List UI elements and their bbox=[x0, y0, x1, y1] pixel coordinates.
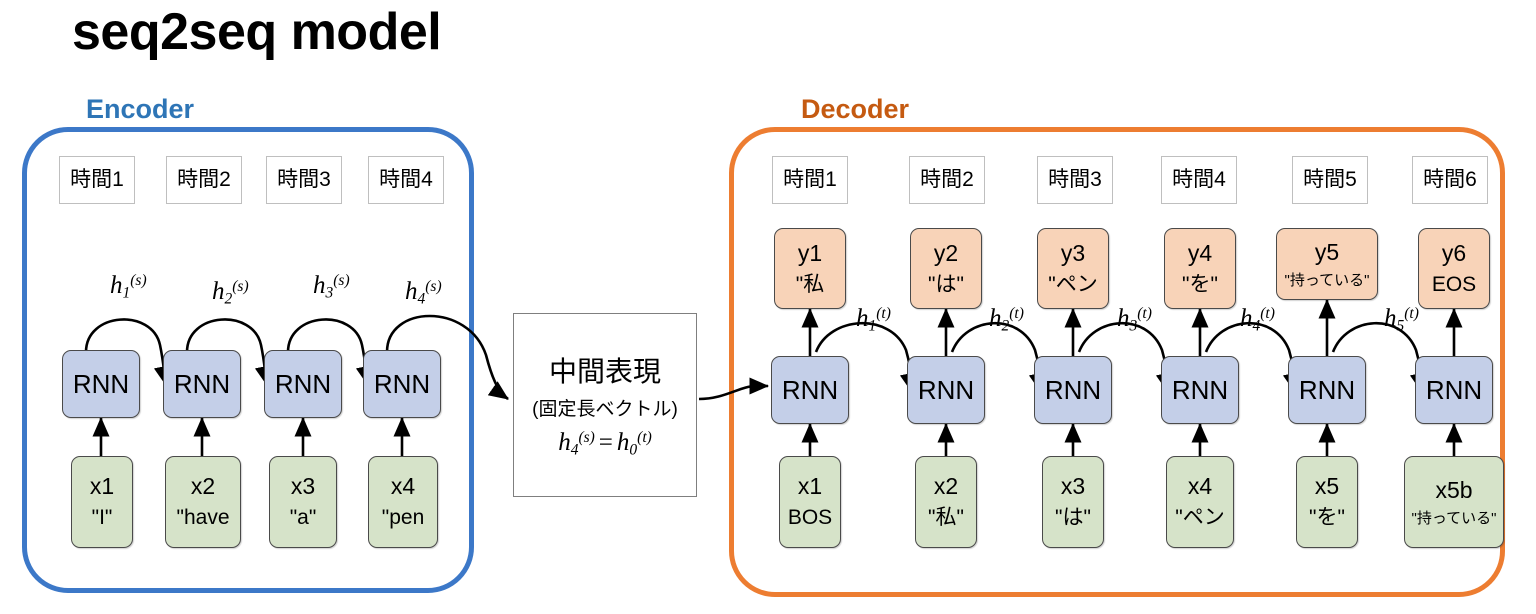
rnn-label: RNN bbox=[1426, 375, 1482, 406]
rnn-label: RNN bbox=[374, 369, 430, 400]
decoder-input-3[interactable]: x3 "は" bbox=[1042, 456, 1104, 548]
h-base: h bbox=[110, 272, 123, 299]
h-base: h bbox=[1384, 305, 1397, 332]
input-id: x5b bbox=[1435, 477, 1472, 504]
h-sup: (t) bbox=[1260, 305, 1275, 322]
page-title: seq2seq model bbox=[72, 2, 441, 62]
encoder-label: Encoder bbox=[86, 94, 194, 125]
h-base: h bbox=[405, 278, 418, 305]
input-id: x2 bbox=[191, 473, 215, 500]
output-word: "持っている" bbox=[1285, 272, 1370, 290]
decoder-input-5[interactable]: x5 "を" bbox=[1296, 456, 1358, 548]
input-id: x3 bbox=[291, 473, 315, 500]
decoder-time-label: 時間6 bbox=[1423, 168, 1477, 193]
encoder-rnn-3[interactable]: RNN bbox=[264, 350, 342, 418]
encoder-time-label: 時間3 bbox=[277, 168, 331, 193]
encoder-hidden-label-2: h2(s) bbox=[212, 278, 249, 309]
h-base: h bbox=[212, 278, 225, 305]
h-sup: (s) bbox=[333, 272, 349, 289]
input-word: "ペン bbox=[1175, 506, 1224, 531]
output-id: y1 bbox=[798, 240, 822, 267]
encoder-time-box-3: 時間3 bbox=[266, 156, 342, 204]
encoder-time-box-2: 時間2 bbox=[166, 156, 242, 204]
decoder-rnn-1[interactable]: RNN bbox=[771, 356, 849, 424]
encoder-time-box-1: 時間1 bbox=[59, 156, 135, 204]
diagram-canvas: seq2seq model Encoder Decoder bbox=[0, 0, 1536, 614]
encoder-rnn-4[interactable]: RNN bbox=[363, 350, 441, 418]
decoder-rnn-5[interactable]: RNN bbox=[1288, 356, 1366, 424]
input-id: x1 bbox=[798, 473, 822, 500]
decoder-output-4[interactable]: y4 "を" bbox=[1164, 228, 1236, 309]
input-id: x4 bbox=[391, 473, 415, 500]
rnn-label: RNN bbox=[1299, 375, 1355, 406]
eq-operator: = bbox=[595, 429, 617, 456]
decoder-time-box-3: 時間3 bbox=[1037, 156, 1113, 204]
intermediate-subtitle: (固定長ベクトル) bbox=[532, 394, 678, 421]
decoder-rnn-6[interactable]: RNN bbox=[1415, 356, 1493, 424]
decoder-rnn-4[interactable]: RNN bbox=[1161, 356, 1239, 424]
output-word: "を" bbox=[1182, 273, 1218, 298]
rnn-label: RNN bbox=[1045, 375, 1101, 406]
encoder-hidden-label-4: h4(s) bbox=[405, 278, 442, 309]
decoder-output-3[interactable]: y3 "ペン bbox=[1037, 228, 1109, 309]
decoder-hidden-label-2: h2(t) bbox=[989, 305, 1024, 336]
encoder-time-label: 時間4 bbox=[379, 168, 433, 193]
h-sup: (t) bbox=[1137, 305, 1152, 322]
eq-right-sub: 0 bbox=[629, 442, 637, 459]
h-sup: (s) bbox=[130, 272, 146, 289]
rnn-label: RNN bbox=[1172, 375, 1228, 406]
eq-left-base: h bbox=[558, 429, 571, 456]
input-id: x3 bbox=[1061, 473, 1085, 500]
h-sup: (s) bbox=[232, 278, 248, 295]
eq-right-base: h bbox=[617, 429, 630, 456]
output-id: y5 bbox=[1315, 239, 1339, 266]
input-word: BOS bbox=[788, 506, 832, 531]
input-word: "持っている" bbox=[1412, 510, 1497, 528]
decoder-rnn-2[interactable]: RNN bbox=[907, 356, 985, 424]
rnn-label: RNN bbox=[275, 369, 331, 400]
decoder-time-label: 時間3 bbox=[1048, 168, 1102, 193]
input-word: "have bbox=[177, 506, 230, 531]
encoder-input-2[interactable]: x2 "have bbox=[165, 456, 241, 548]
rnn-label: RNN bbox=[782, 375, 838, 406]
input-word: "を" bbox=[1309, 506, 1345, 531]
h-sup: (t) bbox=[1009, 305, 1024, 322]
decoder-output-5[interactable]: y5 "持っている" bbox=[1276, 228, 1378, 300]
decoder-time-box-1: 時間1 bbox=[772, 156, 848, 204]
h-sup: (t) bbox=[876, 305, 891, 322]
rnn-label: RNN bbox=[174, 369, 230, 400]
decoder-time-box-5: 時間5 bbox=[1292, 156, 1368, 204]
h-base: h bbox=[856, 305, 869, 332]
output-id: y4 bbox=[1188, 240, 1212, 267]
h-base: h bbox=[1240, 305, 1253, 332]
decoder-time-label: 時間1 bbox=[783, 168, 837, 193]
output-id: y2 bbox=[934, 240, 958, 267]
decoder-time-box-6: 時間6 bbox=[1412, 156, 1488, 204]
decoder-input-6[interactable]: x5b "持っている" bbox=[1404, 456, 1504, 548]
intermediate-representation-box: 中間表現 (固定長ベクトル) h4(s)=h0(t) bbox=[513, 313, 697, 497]
decoder-hidden-label-4: h4(t) bbox=[1240, 305, 1275, 336]
h-base: h bbox=[313, 272, 326, 299]
input-word: "a" bbox=[290, 506, 317, 531]
decoder-output-2[interactable]: y2 "は" bbox=[910, 228, 982, 309]
input-id: x2 bbox=[934, 473, 958, 500]
encoder-time-label: 時間1 bbox=[70, 168, 124, 193]
input-word: "私" bbox=[928, 506, 964, 531]
h-base: h bbox=[989, 305, 1002, 332]
input-word: "は" bbox=[1055, 506, 1091, 531]
decoder-input-1[interactable]: x1 BOS bbox=[779, 456, 841, 548]
decoder-label: Decoder bbox=[801, 94, 909, 125]
decoder-input-2[interactable]: x2 "私" bbox=[915, 456, 977, 548]
decoder-hidden-label-1: h1(t) bbox=[856, 305, 891, 336]
input-id: x5 bbox=[1315, 473, 1339, 500]
decoder-hidden-label-5: h5(t) bbox=[1384, 305, 1419, 336]
decoder-time-label: 時間4 bbox=[1172, 168, 1226, 193]
input-id: x1 bbox=[90, 473, 114, 500]
h-sup: (s) bbox=[425, 278, 441, 295]
input-word: "pen bbox=[382, 506, 425, 531]
decoder-hidden-label-3: h3(t) bbox=[1117, 305, 1152, 336]
rnn-label: RNN bbox=[918, 375, 974, 406]
output-word: "は" bbox=[928, 273, 964, 298]
encoder-input-3[interactable]: x3 "a" bbox=[269, 456, 337, 548]
encoder-time-label: 時間2 bbox=[177, 168, 231, 193]
encoder-time-box-4: 時間4 bbox=[368, 156, 444, 204]
decoder-time-box-2: 時間2 bbox=[909, 156, 985, 204]
output-id: y6 bbox=[1442, 240, 1466, 267]
encoder-rnn-2[interactable]: RNN bbox=[163, 350, 241, 418]
eq-left-sup: (s) bbox=[578, 429, 594, 446]
input-id: x4 bbox=[1188, 473, 1212, 500]
decoder-time-label: 時間5 bbox=[1303, 168, 1357, 193]
rnn-label: RNN bbox=[73, 369, 129, 400]
intermediate-equation: h4(s)=h0(t) bbox=[558, 429, 652, 460]
encoder-hidden-label-1: h1(s) bbox=[110, 272, 147, 303]
output-word: "ペン bbox=[1048, 273, 1097, 298]
decoder-output-1[interactable]: y1 "私 bbox=[774, 228, 846, 309]
h-base: h bbox=[1117, 305, 1130, 332]
encoder-input-1[interactable]: x1 "I" bbox=[71, 456, 133, 548]
decoder-input-4[interactable]: x4 "ペン bbox=[1166, 456, 1234, 548]
output-word: "私 bbox=[796, 273, 824, 298]
output-word: EOS bbox=[1432, 273, 1476, 298]
encoder-hidden-label-3: h3(s) bbox=[313, 272, 350, 303]
decoder-time-label: 時間2 bbox=[920, 168, 974, 193]
decoder-time-box-4: 時間4 bbox=[1161, 156, 1237, 204]
output-id: y3 bbox=[1061, 240, 1085, 267]
decoder-output-6[interactable]: y6 EOS bbox=[1418, 228, 1490, 309]
h-sup: (t) bbox=[1404, 305, 1419, 322]
encoder-input-4[interactable]: x4 "pen bbox=[368, 456, 438, 548]
decoder-rnn-3[interactable]: RNN bbox=[1034, 356, 1112, 424]
encoder-rnn-1[interactable]: RNN bbox=[62, 350, 140, 418]
eq-right-sup: (t) bbox=[637, 429, 652, 446]
input-word: "I" bbox=[92, 506, 113, 531]
intermediate-title: 中間表現 bbox=[549, 350, 661, 390]
